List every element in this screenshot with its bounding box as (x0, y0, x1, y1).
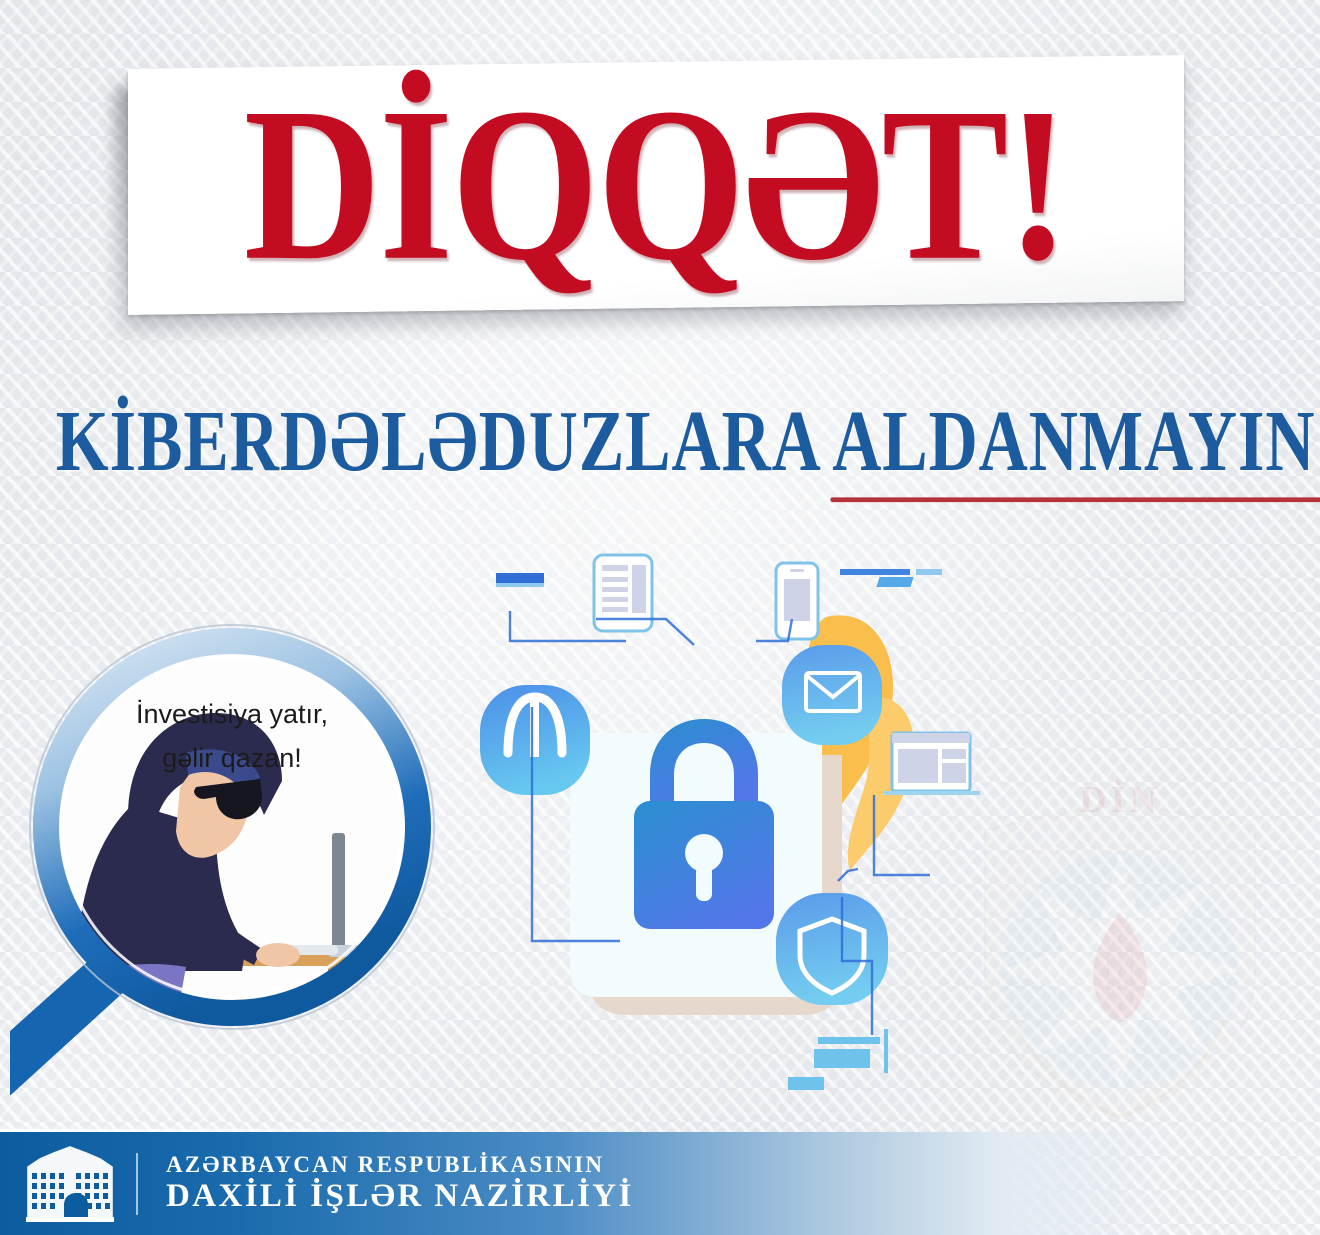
magnifier-scene: İnvestisiya yatır, gəlir qazan! (10, 615, 480, 1095)
ministry-name: AZƏRBAYCAN RESPUBLİKASININ DAXİLİ İŞLƏR … (166, 1152, 634, 1215)
svg-text:İnvestisiya yatır,: İnvestisiya yatır, (136, 698, 328, 729)
title-banner: DİQQƏT! (128, 62, 1188, 317)
din-state-emblem-icon: DİN (955, 770, 1285, 1130)
subtitle-plain-part: KİBERDƏLƏDUZLARA (56, 394, 832, 491)
cyber-security-illustration (470, 545, 990, 1110)
subtitle: KİBERDƏLƏDUZLARA ALDANMAYIN! (56, 392, 1320, 492)
watermark-label: DİN (955, 778, 1285, 822)
manat-currency-icon (480, 685, 590, 795)
smartphone-icon (776, 563, 818, 639)
banner-card: DİQQƏT! (128, 55, 1184, 315)
envelope-icon (782, 645, 882, 745)
footer-logo-divider (136, 1153, 138, 1215)
ministry-line-1: AZƏRBAYCAN RESPUBLİKASININ (166, 1152, 634, 1178)
page-title: DİQQƏT! (244, 77, 1068, 292)
subtitle-row: KİBERDƏLƏDUZLARA ALDANMAYIN! (0, 400, 1320, 485)
footer-bar: AZƏRBAYCAN RESPUBLİKASININ DAXİLİ İŞLƏR … (0, 1132, 1320, 1235)
ministry-line-2: DAXİLİ İŞLƏR NAZİRLİYİ (166, 1178, 634, 1215)
browser-window-icon (884, 733, 980, 795)
svg-text:gəlir qazan!: gəlir qazan! (162, 743, 302, 773)
subtitle-underlined-part: ALDANMAYIN! (832, 394, 1320, 491)
magnifying-glass-icon: İnvestisiya yatır, gəlir qazan! (10, 615, 480, 1095)
ministry-building-icon (24, 1143, 116, 1225)
